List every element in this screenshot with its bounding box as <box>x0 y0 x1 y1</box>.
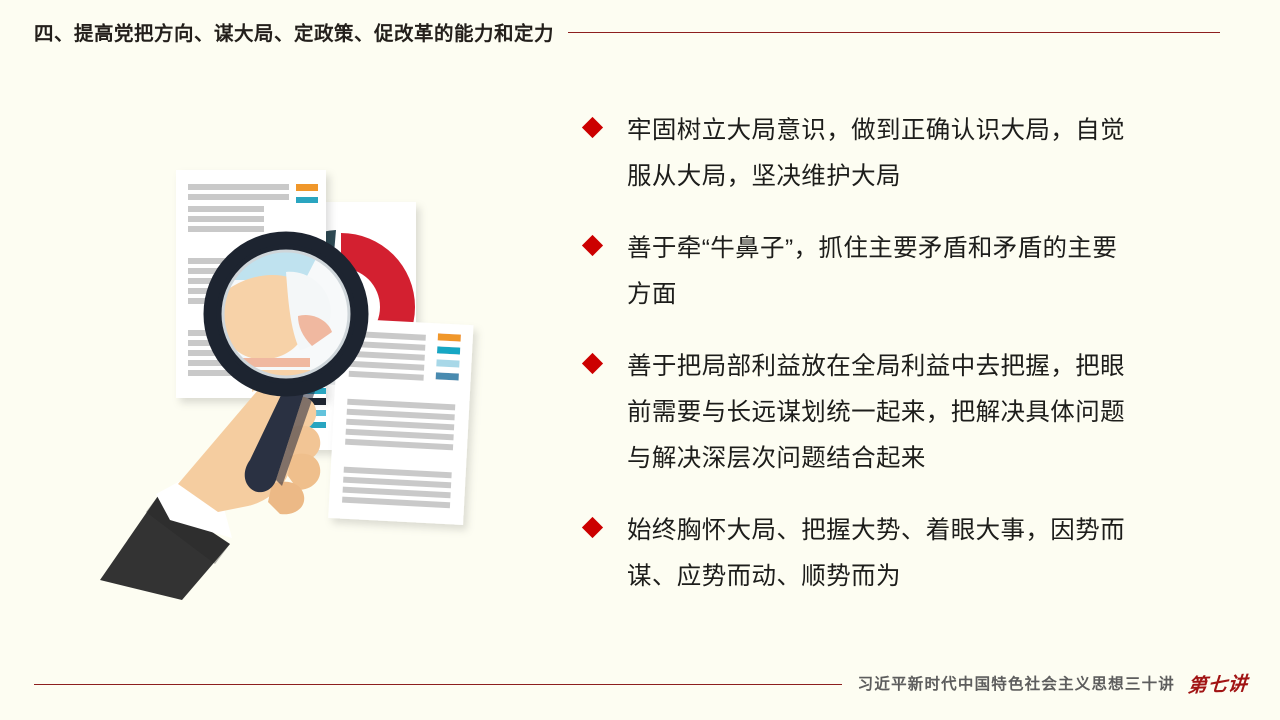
illustration-hand-magnifier-documents <box>90 140 510 600</box>
header-divider-line <box>568 32 1220 33</box>
bullet-item-1: 牢固树立大局意识，做到正确认识大局，自觉服从大局，坚决维护大局 <box>585 108 1185 200</box>
diamond-bullet-icon <box>582 117 603 138</box>
bullet-text-1: 牢固树立大局意识，做到正确认识大局，自觉服从大局，坚决维护大局 <box>627 108 1137 200</box>
slide-root: 四、提高党把方向、谋大局、定政策、促改革的能力和定力 <box>0 0 1280 720</box>
bullet-item-2: 善于牵“牛鼻子”，抓住主要矛盾和矛盾的主要方面 <box>585 226 1185 318</box>
bullet-text-4: 始终胸怀大局、把握大势、着眼大事，因势而谋、应势而动、顺势而为 <box>627 508 1137 600</box>
bullet-text-2: 善于牵“牛鼻子”，抓住主要矛盾和矛盾的主要方面 <box>627 226 1137 318</box>
bullet-item-3: 善于把局部利益放在全局利益中去把握，把眼前需要与长远谋划统一起来，把解决具体问题… <box>585 344 1185 482</box>
footer-series-title: 习近平新时代中国特色社会主义思想三十讲 <box>858 672 1175 694</box>
slide-footer: 习近平新时代中国特色社会主义思想三十讲 第七讲 <box>34 668 1248 698</box>
diamond-bullet-icon <box>582 235 603 256</box>
diamond-bullet-icon <box>582 517 603 538</box>
diamond-bullet-icon <box>582 353 603 374</box>
footer-lecture-badge: 第七讲 <box>1187 668 1249 697</box>
bullet-list: 牢固树立大局意识，做到正确认识大局，自觉服从大局，坚决维护大局 善于牵“牛鼻子”… <box>585 108 1185 600</box>
page-title: 四、提高党把方向、谋大局、定政策、促改革的能力和定力 <box>34 17 554 46</box>
bullet-text-3: 善于把局部利益放在全局利益中去把握，把眼前需要与长远谋划统一起来，把解决具体问题… <box>627 344 1137 482</box>
footer-divider-line <box>34 684 842 685</box>
slide-header: 四、提高党把方向、谋大局、定政策、促改革的能力和定力 <box>34 14 1250 48</box>
bullet-item-4: 始终胸怀大局、把握大势、着眼大事，因势而谋、应势而动、顺势而为 <box>585 508 1185 600</box>
magnifier-lens <box>210 238 362 390</box>
